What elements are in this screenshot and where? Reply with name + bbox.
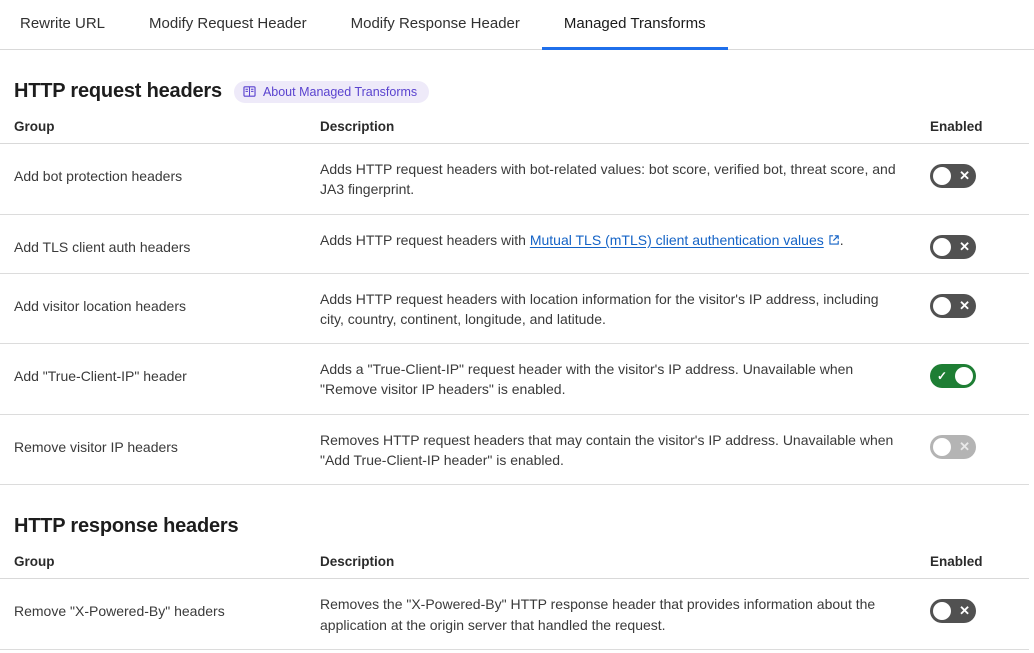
row-group-name: Remove visitor IP headers — [0, 414, 320, 485]
row-description: Removes HTTP request headers that may co… — [320, 414, 930, 485]
toggle-knob — [933, 438, 951, 456]
description-text-after: . — [840, 232, 844, 248]
tab-bar: Rewrite URL Modify Request Header Modify… — [0, 0, 1034, 50]
check-icon: ✓ — [937, 364, 947, 388]
column-header-description: Description — [320, 554, 930, 579]
x-icon: ✕ — [959, 294, 970, 318]
toggle-add-tls-client-auth-headers[interactable]: ✕ — [930, 235, 976, 259]
table-row: Add TLS client auth headers Adds HTTP re… — [0, 214, 1029, 273]
group-label: Add TLS client auth headers — [14, 230, 320, 257]
about-managed-transforms-badge[interactable]: About Managed Transforms — [234, 81, 429, 103]
description-text: Adds a "True-Client-IP" request header w… — [320, 359, 900, 400]
row-group-name: Remove "X-Powered-By" headers — [0, 579, 320, 650]
group-label: Remove visitor IP headers — [14, 430, 320, 457]
toggle-knob — [933, 602, 951, 620]
toggle-add-bot-protection-headers[interactable]: ✕ — [930, 164, 976, 188]
x-icon: ✕ — [959, 435, 970, 459]
table-header-row: Group Description Enabled — [0, 554, 1029, 579]
request-headers-table: Group Description Enabled Add bot protec… — [0, 119, 1029, 485]
toggle-remove-visitor-ip-headers: ✕ — [930, 435, 976, 459]
http-request-headers-section: HTTP request headers About Managed Trans… — [0, 80, 1034, 485]
row-enabled-cell: ✕ — [930, 144, 1029, 215]
toggle-remove-x-powered-by-headers[interactable]: ✕ — [930, 599, 976, 623]
description-text: Removes HTTP request headers that may co… — [320, 430, 900, 471]
row-group-name: Add security headers — [0, 649, 320, 653]
mtls-client-auth-link[interactable]: Mutual TLS (mTLS) client authentication … — [530, 232, 824, 248]
x-icon: ✕ — [959, 599, 970, 623]
table-row: Add "True-Client-IP" header Adds a "True… — [0, 344, 1029, 415]
row-group-name: Add visitor location headers — [0, 273, 320, 344]
tab-modify-request-header[interactable]: Modify Request Header — [127, 0, 329, 50]
group-label: Add bot protection headers — [14, 159, 320, 186]
x-icon: ✕ — [959, 164, 970, 188]
column-header-group: Group — [0, 554, 320, 579]
description-text: Removes the "X-Powered-By" HTTP response… — [320, 594, 900, 635]
column-header-enabled: Enabled — [930, 554, 1029, 579]
row-enabled-cell: ✕ — [930, 214, 1029, 273]
toggle-knob — [933, 238, 951, 256]
toggle-knob — [933, 297, 951, 315]
row-group-name: Add bot protection headers — [0, 144, 320, 215]
row-group-name: Add "True-Client-IP" header — [0, 344, 320, 415]
x-icon: ✕ — [959, 235, 970, 259]
request-section-header: HTTP request headers About Managed Trans… — [0, 80, 1029, 103]
toggle-knob — [933, 167, 951, 185]
toggle-add-true-client-ip-header[interactable]: ✓ — [930, 364, 976, 388]
description-text-before: Adds HTTP request headers with — [320, 232, 530, 248]
response-section-header: HTTP response headers — [0, 515, 1029, 538]
row-description: Adds HTTP request headers with location … — [320, 273, 930, 344]
page-title-response: HTTP response headers — [14, 515, 238, 538]
table-row: Add visitor location headers Adds HTTP r… — [0, 273, 1029, 344]
table-row: Remove visitor IP headers Removes HTTP r… — [0, 414, 1029, 485]
row-group-name: Add TLS client auth headers — [0, 214, 320, 273]
row-enabled-cell: ✕ — [930, 273, 1029, 344]
tab-rewrite-url[interactable]: Rewrite URL — [0, 0, 127, 50]
column-header-description: Description — [320, 119, 930, 144]
tab-managed-transforms[interactable]: Managed Transforms — [542, 0, 728, 50]
row-description: Adds several security-related HTTP respo… — [320, 649, 930, 653]
description-text: Adds HTTP request headers with bot-relat… — [320, 159, 900, 200]
page-title-request: HTTP request headers — [14, 80, 222, 103]
response-headers-table: Group Description Enabled Remove "X-Powe… — [0, 554, 1029, 653]
table-row: Add bot protection headers Adds HTTP req… — [0, 144, 1029, 215]
http-response-headers-section: HTTP response headers Group Description … — [0, 515, 1034, 653]
row-description: Adds a "True-Client-IP" request header w… — [320, 344, 930, 415]
toggle-add-visitor-location-headers[interactable]: ✕ — [930, 294, 976, 318]
external-link-icon[interactable] — [828, 231, 840, 251]
toggle-knob — [955, 367, 973, 385]
group-label: Add "True-Client-IP" header — [14, 359, 320, 386]
tab-modify-response-header[interactable]: Modify Response Header — [329, 0, 542, 50]
row-enabled-cell: ✕ — [930, 649, 1029, 653]
about-badge-label: About Managed Transforms — [263, 85, 417, 99]
group-label: Add visitor location headers — [14, 289, 320, 316]
description-text: Adds HTTP request headers with location … — [320, 289, 900, 330]
table-row: Remove "X-Powered-By" headers Removes th… — [0, 579, 1029, 650]
table-row: Add security headers Adds several securi… — [0, 649, 1029, 653]
row-description: Adds HTTP request headers with Mutual TL… — [320, 214, 930, 273]
group-label: Remove "X-Powered-By" headers — [14, 594, 320, 621]
row-enabled-cell: ✓ — [930, 344, 1029, 415]
row-description: Removes the "X-Powered-By" HTTP response… — [320, 579, 930, 650]
row-enabled-cell: ✕ — [930, 579, 1029, 650]
row-enabled-cell: ✕ — [930, 414, 1029, 485]
row-description: Adds HTTP request headers with bot-relat… — [320, 144, 930, 215]
table-header-row: Group Description Enabled — [0, 119, 1029, 144]
column-header-group: Group — [0, 119, 320, 144]
column-header-enabled: Enabled — [930, 119, 1029, 144]
book-icon — [243, 85, 256, 98]
